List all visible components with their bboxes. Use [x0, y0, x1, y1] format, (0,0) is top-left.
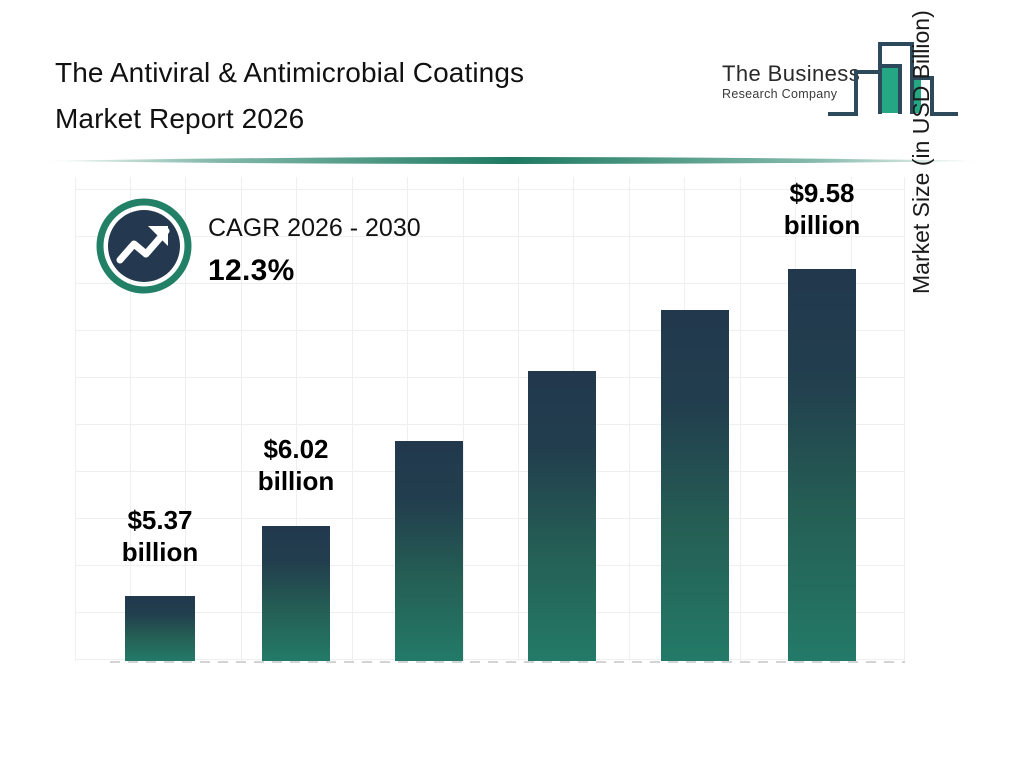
gridline-h: [75, 659, 905, 660]
bar-value-label-2030: $9.58 billion: [762, 177, 882, 241]
trending-up-icon: [96, 198, 192, 294]
bar-2028[interactable]: [528, 371, 596, 661]
gridline-v: [740, 177, 741, 661]
gridline-h: [75, 424, 905, 425]
header-divider: [40, 152, 984, 170]
y-axis-title: Market Size (in USD Billion): [903, 0, 939, 294]
bar-value-label-2026: $6.02 billion: [236, 433, 356, 497]
bar-2030[interactable]: [788, 269, 856, 661]
header: The Antiviral & Antimicrobial Coatings M…: [0, 0, 1024, 150]
cagr-badge: CAGR 2026 - 2030 12.3%: [96, 198, 496, 308]
bar-value-label-2025: $5.37 billion: [100, 504, 220, 568]
bar-2029[interactable]: [661, 310, 729, 661]
gridline-h: [75, 377, 905, 378]
gridline-v: [75, 177, 76, 661]
bar-2026[interactable]: [262, 526, 330, 661]
axis-baseline: [110, 661, 905, 663]
cagr-value: 12.3%: [208, 254, 295, 288]
gridline-v: [629, 177, 630, 661]
chart-page: The Antiviral & Antimicrobial Coatings M…: [0, 0, 1024, 768]
gridline-h: [75, 612, 905, 613]
gridline-h: [75, 330, 905, 331]
bar-2027[interactable]: [395, 441, 463, 661]
cagr-period-label: CAGR 2026 - 2030: [208, 214, 421, 243]
gridline-v: [518, 177, 519, 661]
bar-2025[interactable]: [125, 596, 195, 661]
bar-chart-logo-mark-icon: [826, 36, 960, 125]
gridline-h: [75, 471, 905, 472]
page-title: The Antiviral & Antimicrobial Coatings M…: [55, 50, 715, 142]
